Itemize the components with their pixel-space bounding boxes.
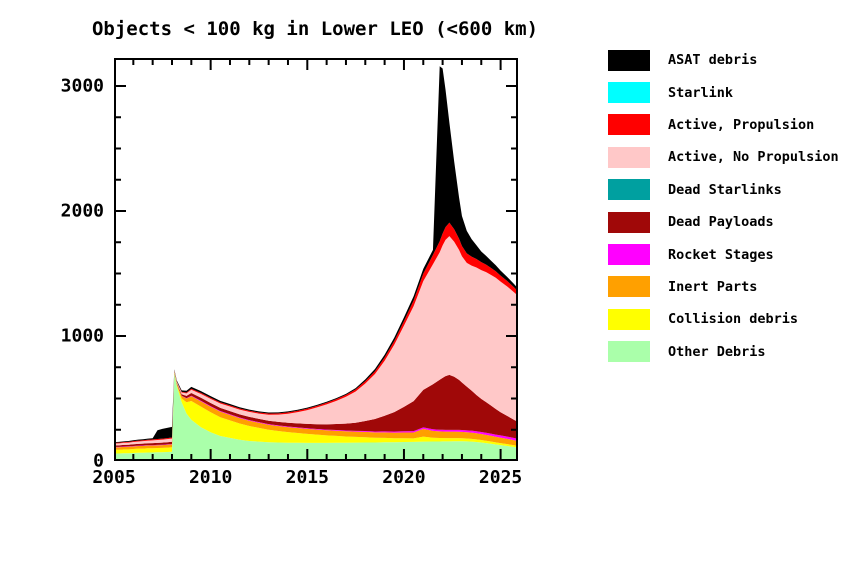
legend-item-label: Starlink <box>668 85 733 101</box>
legend-item-active-no-propulsion[interactable]: Active, No Propulsion <box>608 141 853 173</box>
stacked-area-plot <box>114 58 518 461</box>
legend-item-rocket-stages[interactable]: Rocket Stages <box>608 238 853 270</box>
x-tick-label-2015: 2015 <box>262 467 352 488</box>
legend-item-dead-starlinks[interactable]: Dead Starlinks <box>608 174 853 206</box>
legend-item-label: ASAT debris <box>668 52 757 68</box>
legend-swatch-icon <box>608 212 650 233</box>
legend-item-label: Collision debris <box>668 311 798 327</box>
legend-item-dead-payloads[interactable]: Dead Payloads <box>608 206 853 238</box>
legend-swatch-icon <box>608 50 650 71</box>
legend-item-inert-parts[interactable]: Inert Parts <box>608 271 853 303</box>
chart-title: Objects < 100 kg in Lower LEO (<600 km) <box>0 18 630 40</box>
legend-swatch-icon <box>608 179 650 200</box>
legend-item-label: Dead Starlinks <box>668 182 782 198</box>
legend-item-starlink[interactable]: Starlink <box>608 76 853 108</box>
legend-item-other-debris[interactable]: Other Debris <box>608 336 853 368</box>
x-tick-label-2020: 2020 <box>359 467 449 488</box>
legend-item-label: Inert Parts <box>668 279 757 295</box>
legend-swatch-icon <box>608 276 650 297</box>
legend-item-label: Other Debris <box>668 344 766 360</box>
x-tick-label-2025: 2025 <box>456 467 546 488</box>
plot-area <box>114 58 518 461</box>
legend-swatch-icon <box>608 147 650 168</box>
legend-item-collision-debris[interactable]: Collision debris <box>608 303 853 335</box>
legend-item-label: Active, Propulsion <box>668 117 814 133</box>
legend-swatch-icon <box>608 82 650 103</box>
y-tick-label-2000: 2000 <box>38 201 104 222</box>
chart-root: Objects < 100 kg in Lower LEO (<600 km) … <box>0 0 857 576</box>
legend-swatch-icon <box>608 114 650 135</box>
legend-item-active-propulsion[interactable]: Active, Propulsion <box>608 109 853 141</box>
y-tick-label-1000: 1000 <box>38 326 104 347</box>
chart-legend: ASAT debrisStarlinkActive, PropulsionAct… <box>608 44 853 368</box>
legend-swatch-icon <box>608 244 650 265</box>
y-tick-label-3000: 3000 <box>38 76 104 97</box>
x-tick-label-2010: 2010 <box>166 467 256 488</box>
x-tick-label-2005: 2005 <box>69 467 159 488</box>
legend-swatch-icon <box>608 341 650 362</box>
legend-item-label: Rocket Stages <box>668 247 774 263</box>
legend-item-label: Active, No Propulsion <box>668 149 839 165</box>
legend-item-label: Dead Payloads <box>668 214 774 230</box>
legend-swatch-icon <box>608 309 650 330</box>
legend-item-asat-debris[interactable]: ASAT debris <box>608 44 853 76</box>
